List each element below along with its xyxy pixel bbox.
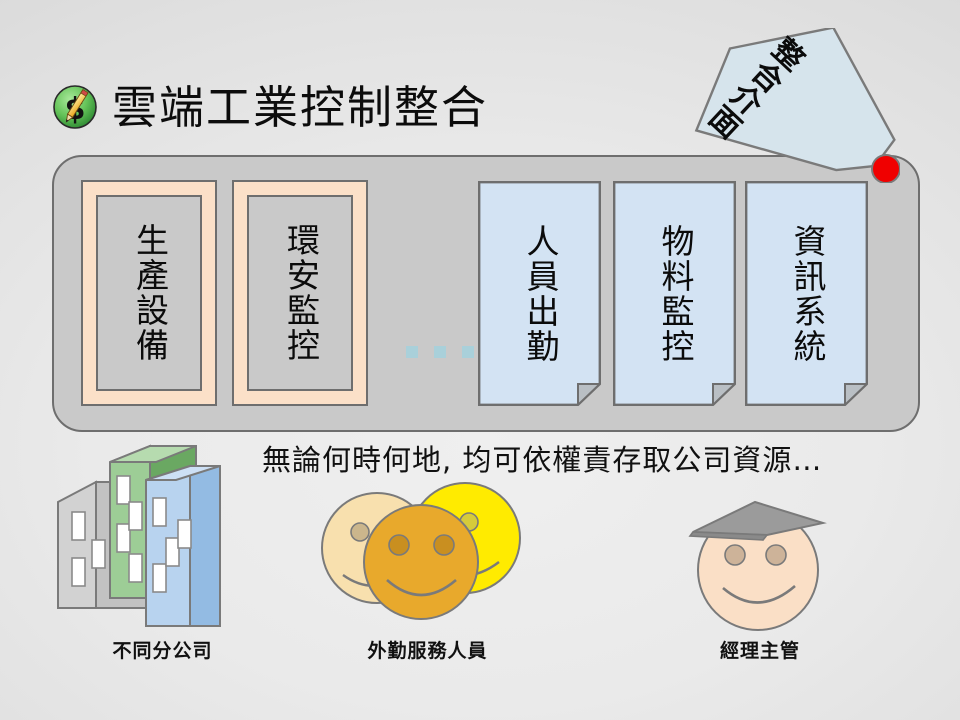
legacy-card-safety-inner: 環安監控 xyxy=(247,195,353,391)
legacy-card-safety-label: 環安監控 xyxy=(283,223,318,363)
figure-field-staff: 外勤服務人員 xyxy=(305,470,550,665)
page-title: 雲端工業控制整合 xyxy=(112,85,488,130)
doc-card-attendance-label: 人員出勤 xyxy=(522,224,557,364)
ellipsis-separator xyxy=(406,346,474,358)
doc-card-attendance-inner: 人員出勤 xyxy=(478,181,601,406)
slide-title-row: $ 雲端工業控制整合 xyxy=(52,76,488,138)
integration-interface-banner[interactable]: 整合介面 xyxy=(690,28,900,178)
manager-face-with-cap-icon xyxy=(645,490,875,640)
ellipsis-dot-3 xyxy=(462,346,474,358)
slide-canvas: $ 雲端工業控制整合 生產設備 環安監控 xyxy=(0,0,960,720)
figure-manager-caption: 經理主管 xyxy=(645,636,875,663)
figure-branch-offices: 不同分公司 xyxy=(50,440,275,665)
doc-card-attendance[interactable]: 人員出勤 xyxy=(478,181,601,406)
legacy-card-production-inner: 生產設備 xyxy=(96,195,202,391)
doc-card-information-system[interactable]: 資訊系統 xyxy=(745,181,868,406)
ellipsis-dot-2 xyxy=(434,346,446,358)
legacy-card-production[interactable]: 生產設備 xyxy=(81,180,217,406)
figure-field-staff-caption: 外勤服務人員 xyxy=(305,636,550,663)
doc-card-materials-label: 物料監控 xyxy=(657,224,692,364)
ellipsis-dot-1 xyxy=(406,346,418,358)
doc-card-materials-inner: 物料監控 xyxy=(613,181,736,406)
doc-card-information-system-inner: 資訊系統 xyxy=(745,181,868,406)
legacy-card-production-label: 生產設備 xyxy=(132,223,167,363)
figure-branch-offices-caption: 不同分公司 xyxy=(50,636,275,663)
doc-card-materials[interactable]: 物料監控 xyxy=(613,181,736,406)
banner-endpoint-dot xyxy=(872,155,900,183)
office-buildings-icon xyxy=(50,440,275,640)
figure-manager: 經理主管 xyxy=(645,490,875,665)
legacy-card-safety[interactable]: 環安監控 xyxy=(232,180,368,406)
three-smiley-faces-icon xyxy=(305,470,550,635)
money-pencil-icon: $ xyxy=(52,84,98,130)
doc-card-information-system-label: 資訊系統 xyxy=(789,224,824,364)
